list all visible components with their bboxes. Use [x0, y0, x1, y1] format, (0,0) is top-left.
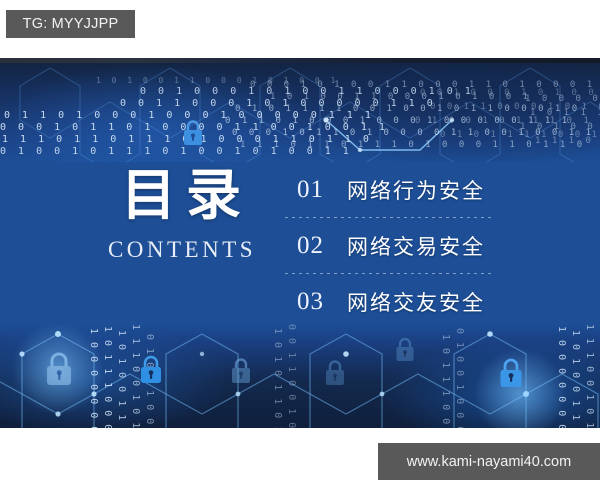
padlock-icon [322, 358, 348, 389]
binary-row: 1 0 1 0 0 1 1 0 0 1 0 [116, 330, 127, 428]
binary-row: 1 0 0 0 0 0 0 0 1 0 0 [525, 94, 600, 104]
binary-row: 1 0 1 1 1 0 0 0 1 0 0 [102, 326, 113, 428]
list-item[interactable]: 02 网络交易安全 [285, 218, 500, 273]
presentation-slide: 1 0 1 0 0 1 1 0 0 0 1 0 1 0 0 1 0 0 1 0 … [0, 58, 600, 428]
binary-row: 1 0 0 0 0 0 0 0 1 0 0 [88, 328, 99, 428]
list-item[interactable]: 03 网络交友安全 [285, 274, 500, 329]
site-watermark: www.kami-nayami40.com [378, 443, 600, 480]
page-subtitle: CONTENTS [82, 237, 282, 263]
bottom-decoration-band: 1 0 0 0 0 0 0 0 1 0 0 1 0 1 1 1 0 0 0 1 … [0, 324, 600, 428]
binary-row: 1 0 1 1 1 0 0 0 1 0 0 [440, 334, 451, 428]
toc-label: 网络交易安全 [347, 231, 485, 261]
telegram-tag-badge: TG: MYYJJPP [6, 10, 135, 38]
binary-row: 1 0 1 0 0 1 1 0 0 1 0 [570, 330, 581, 428]
binary-row: 1 0 0 0 0 0 0 0 1 0 0 [556, 326, 567, 428]
table-of-contents: 01 网络行为安全 02 网络交易安全 03 网络交友安全 [285, 162, 500, 329]
binary-row: 0 1 0 0 1 0 0 0 1 0 0 [454, 328, 465, 428]
padlock-icon [496, 356, 526, 391]
padlock-icon [393, 336, 417, 365]
binary-row: 1 1 1 0 0 1 0 1 0 1 1 [535, 136, 600, 146]
slide-top-edge-strip [0, 58, 600, 63]
toc-number: 03 [285, 288, 347, 316]
contents-title-group: 目录 CONTENTS [82, 168, 282, 263]
toc-label: 网络行为安全 [347, 175, 485, 205]
page-title: 目录 [90, 168, 282, 223]
padlock-icon [137, 354, 165, 387]
toc-number: 01 [285, 176, 347, 204]
padlock-icon [228, 356, 254, 387]
list-item[interactable]: 01 网络行为安全 [285, 162, 500, 217]
binary-row: 0 0 1 1 0 0 1 0 1 1 0 [286, 324, 297, 428]
binary-row: 1 1 1 0 1 1 0 1 1 1 0 1 0 0 0 1 1 0 1 1 … [240, 140, 585, 150]
binary-row: 1 1 1 0 0 1 0 1 0 1 1 [584, 324, 595, 428]
binary-row: 1 0 1 0 0 1 1 0 0 1 0 [520, 122, 600, 132]
binary-row: 1 0 1 1 1 0 0 0 1 0 0 [530, 108, 600, 118]
binary-row: 1 0 1 0 1 1 0 1 0 0 1 [272, 328, 283, 428]
toc-number: 02 [285, 232, 347, 260]
toc-label: 网络交友安全 [347, 287, 485, 317]
top-decoration-band: 1 0 1 0 0 1 1 0 0 0 1 0 1 0 0 1 0 0 1 0 … [0, 58, 600, 162]
padlock-icon [42, 350, 76, 390]
padlock-icon [180, 118, 206, 148]
